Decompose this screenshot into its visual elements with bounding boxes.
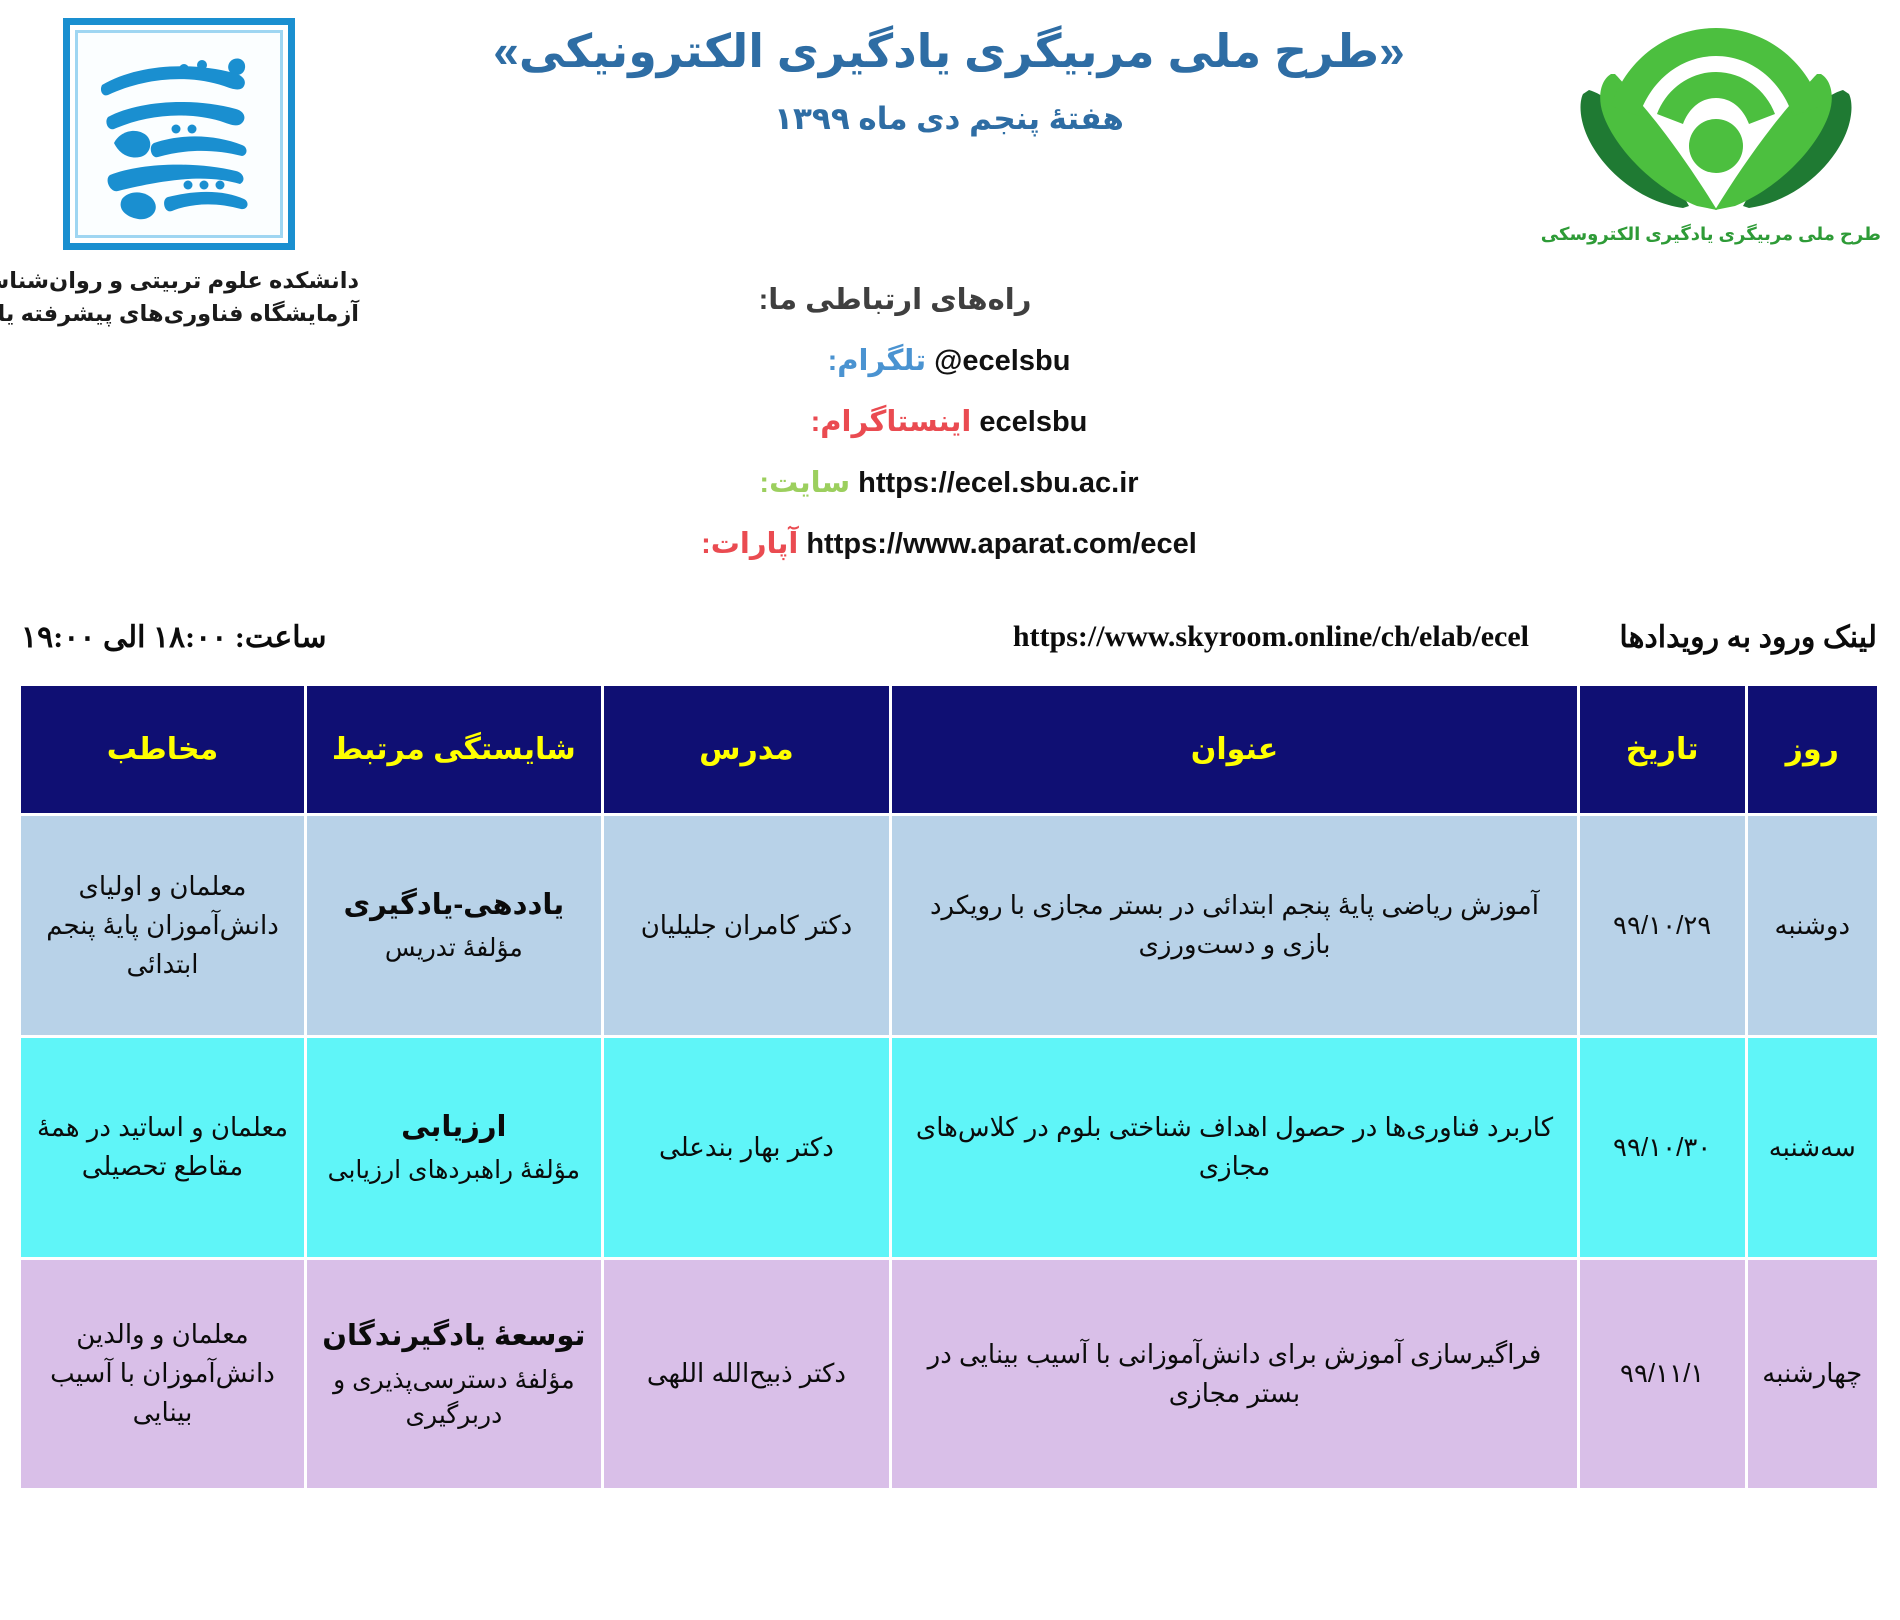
telegram-handle[interactable]: @ecelsbu (935, 345, 1071, 378)
competency-main: توسعهٔ یادگیرندگان (320, 1315, 590, 1359)
cell-date: ۹۹/۱۱/۱ (1579, 1258, 1747, 1488)
sbu-university-logo (64, 18, 296, 250)
event-link-label: لینک ورود به رویدادها (1620, 620, 1878, 655)
event-link-url[interactable]: https://www.skyroom.online/ch/elab/ecel (1014, 620, 1530, 654)
column-header-audience: مخاطب (22, 686, 306, 814)
cell-competency: توسعهٔ یادگیرندگان مؤلفهٔ دسترسی‌پذیری و… (306, 1258, 603, 1488)
competency-sub: مؤلفهٔ تدریس (320, 931, 590, 966)
cell-title: فراگیرسازی آموزش برای دانش‌آموزانی با آس… (892, 1258, 1580, 1488)
competency-sub: مؤلفهٔ دسترسی‌پذیری و دربرگیری (320, 1363, 590, 1433)
contact-block: راه‌های ارتباطی ما: @ecelsbu تلگرام: ece… (0, 282, 1900, 587)
schedule-table: روز تاریخ عنوان مدرس شایستگی مرتبط مخاطب… (22, 686, 1878, 1488)
contact-row-telegram: @ecelsbu تلگرام: (0, 343, 1900, 378)
event-time: ساعت: ۱۸:۰۰ الی ۱۹:۰۰ (22, 620, 328, 655)
poster-header: دانشکده علوم تربیتی و روان‌شناسی آزمایشگ… (0, 0, 1900, 620)
elab-logo-caption: طرح ملی مربیگری یادگیری الکتروسکی (1552, 224, 1882, 245)
cell-title: آموزش ریاضی پایهٔ پنجم ابتدائی در بستر م… (892, 814, 1580, 1036)
elab-wifi-hands-logo (1572, 10, 1862, 218)
elab-logo-block: طرح ملی مربیگری یادگیری الکتروسکی (1552, 10, 1882, 245)
contact-row-website: https://ecel.sbu.ac.ir سایت: (0, 465, 1900, 500)
column-header-competency: شایستگی مرتبط (306, 686, 603, 814)
table-header-row: روز تاریخ عنوان مدرس شایستگی مرتبط مخاطب (22, 686, 1878, 814)
contact-row-aparat: https://www.aparat.com/ecel آپارات: (0, 526, 1900, 561)
telegram-label: تلگرام: (829, 345, 928, 377)
column-header-title: عنوان (892, 686, 1580, 814)
competency-main: ارزیابی (320, 1106, 590, 1150)
column-header-day: روز (1747, 686, 1878, 814)
cell-teacher: دکتر بهار بندعلی (603, 1036, 892, 1258)
contact-row-instagram: ecelsbu اینستاگرام: (0, 404, 1900, 439)
column-header-teacher: مدرس (603, 686, 892, 814)
cell-title: کاربرد فناوری‌ها در حصول اهداف شناختی بل… (892, 1036, 1580, 1258)
competency-main: یاددهی-یادگیری (320, 884, 590, 928)
cell-teacher: دکتر ذبیح‌الله اللهی (603, 1258, 892, 1488)
cell-audience: معلمان و والدین دانش‌آموزان با آسیب بینا… (22, 1258, 306, 1488)
aparat-url[interactable]: https://www.aparat.com/ecel (807, 528, 1198, 561)
table-row: سه‌شنبه ۹۹/۱۰/۳۰ کاربرد فناوری‌ها در حصو… (22, 1036, 1878, 1258)
column-header-date: تاریخ (1579, 686, 1747, 814)
aparat-label: آپارات: (702, 528, 799, 560)
cell-day: سه‌شنبه (1747, 1036, 1878, 1258)
contact-heading: راه‌های ارتباطی ما: (0, 282, 1792, 317)
cell-day: دوشنبه (1747, 814, 1878, 1036)
cell-audience: معلمان و اولیای دانش‌آموزان پایهٔ پنجم ا… (22, 814, 306, 1036)
event-link-row: لینک ورود به رویدادها https://www.skyroo… (0, 620, 1900, 686)
website-label: سایت: (760, 467, 851, 499)
cell-competency: یاددهی-یادگیری مؤلفهٔ تدریس (306, 814, 603, 1036)
website-url[interactable]: https://ecel.sbu.ac.ir (859, 467, 1139, 500)
poster-page: دانشکده علوم تربیتی و روان‌شناسی آزمایشگ… (0, 0, 1900, 1620)
cell-competency: ارزیابی مؤلفهٔ راهبردهای ارزیابی (306, 1036, 603, 1258)
cell-date: ۹۹/۱۰/۳۰ (1579, 1036, 1747, 1258)
cell-date: ۹۹/۱۰/۲۹ (1579, 814, 1747, 1036)
table-row: چهارشنبه ۹۹/۱۱/۱ فراگیرسازی آموزش برای د… (22, 1258, 1878, 1488)
cell-day: چهارشنبه (1747, 1258, 1878, 1488)
table-row: دوشنبه ۹۹/۱۰/۲۹ آموزش ریاضی پایهٔ پنجم ا… (22, 814, 1878, 1036)
schedule-table-wrap: روز تاریخ عنوان مدرس شایستگی مرتبط مخاطب… (0, 686, 1900, 1488)
cell-audience: معلمان و اساتید در همهٔ مقاطع تحصیلی (22, 1036, 306, 1258)
instagram-handle[interactable]: ecelsbu (980, 406, 1088, 439)
sbu-logo-frame (76, 30, 284, 238)
instagram-label: اینستاگرام: (812, 406, 973, 438)
competency-sub: مؤلفهٔ راهبردهای ارزیابی (320, 1153, 590, 1188)
cell-teacher: دکتر کامران جلیلیان (603, 814, 892, 1036)
